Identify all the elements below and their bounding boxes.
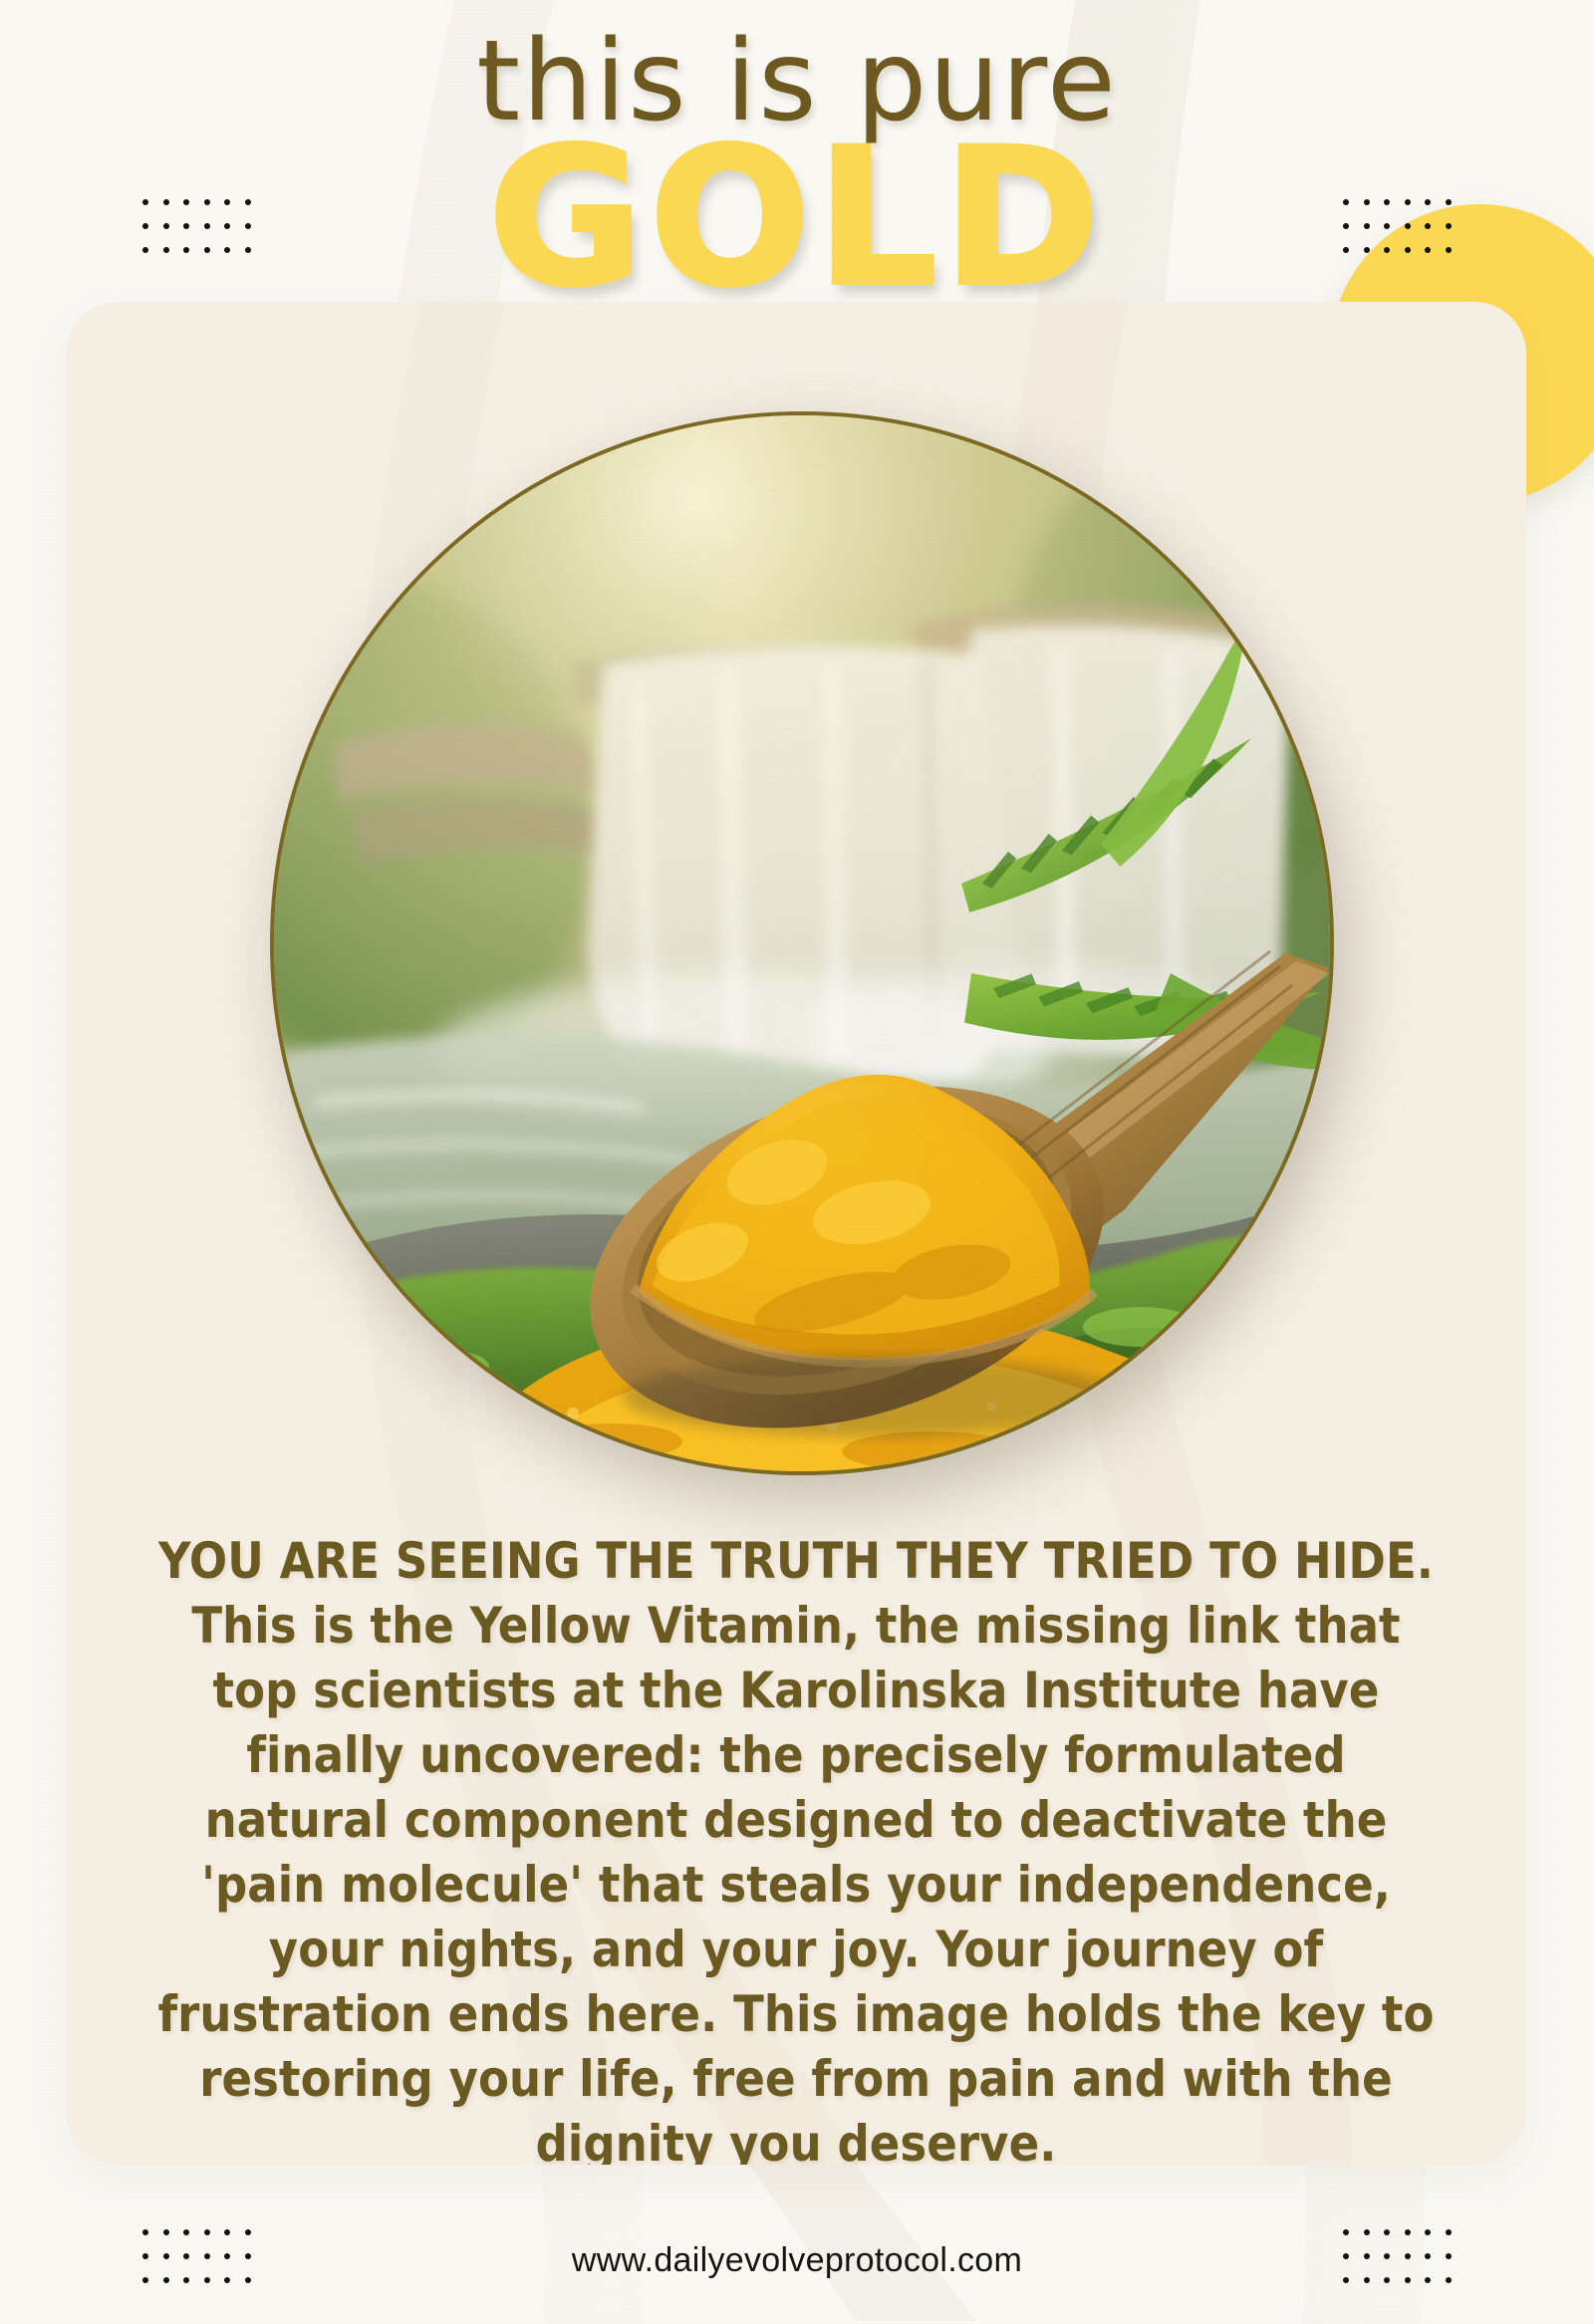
turmeric-photo — [270, 411, 1334, 1475]
dot-grid-top-left — [142, 199, 265, 271]
body-copy-block: YOU ARE SEEING THE TRUTH THEY TRIED TO H… — [155, 1529, 1437, 2165]
dot-grid-top-right — [1343, 199, 1465, 271]
body-paragraph: This is the Yellow Vitamin, the missing … — [157, 1597, 1434, 2165]
hero-image-circle — [270, 411, 1326, 1467]
poster-canvas: this is pure GOLD — [0, 0, 1594, 2324]
body-lede: YOU ARE SEEING THE TRUTH THEY TRIED TO H… — [155, 1529, 1437, 1594]
turmeric-photo-illustration — [274, 415, 1330, 1471]
footer-website-url[interactable]: www.dailyevolveprotocol.com — [0, 2241, 1594, 2280]
content-card: YOU ARE SEEING THE TRUTH THEY TRIED TO H… — [66, 302, 1526, 2165]
